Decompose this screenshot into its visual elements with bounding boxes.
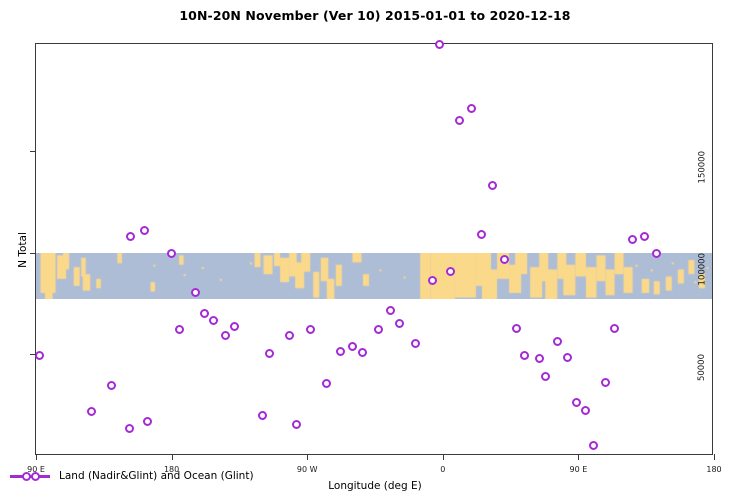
scatter-point (140, 226, 149, 235)
scatter-point (467, 104, 476, 113)
legend-marker-sample (10, 470, 52, 482)
legend-circle-icon (22, 472, 31, 481)
scatter-point (541, 372, 550, 381)
scatter-point (336, 347, 345, 356)
y-axis-tick (30, 253, 36, 254)
scatter-point (87, 407, 96, 416)
legend-label: Land (Nadir&Glint) and Ocean (Glint) (59, 470, 254, 482)
x-axis-tick (307, 454, 308, 460)
scatter-point (209, 316, 218, 325)
scatter-point (258, 411, 267, 420)
scatter-point (610, 324, 619, 333)
scatter-point (640, 232, 649, 241)
x-axis-tick-label: 180 (706, 465, 721, 474)
scatter-point (265, 349, 274, 358)
x-axis-tick-label: 0 (440, 465, 445, 474)
plot-area: 50000100000150000 90 E18090 W090 E180 (35, 43, 713, 455)
scatter-point (411, 339, 420, 348)
scatter-point (35, 351, 44, 360)
legend-circle-icon (31, 472, 40, 481)
scatter-point (374, 325, 383, 334)
world-map-band (36, 253, 712, 300)
y-axis-tick-label: 50000 (697, 354, 707, 381)
figure-canvas: 10N-20N November (Ver 10) 2015-01-01 to … (0, 0, 750, 500)
scatter-point (358, 348, 367, 357)
y-axis-tick-label: 100000 (697, 253, 707, 285)
y-axis-tick (30, 354, 36, 355)
scatter-point (292, 420, 301, 429)
x-axis-tick (172, 454, 173, 460)
scatter-point (520, 351, 529, 360)
y-axis-tick (30, 151, 36, 152)
scatter-point (230, 322, 239, 331)
scatter-point (589, 441, 598, 450)
x-axis-tick-label: 90 E (570, 465, 588, 474)
y-axis-tick-label: 150000 (697, 151, 707, 183)
chart-title: 10N-20N November (Ver 10) 2015-01-01 to … (0, 8, 750, 23)
scatter-point (200, 309, 209, 318)
scatter-point (553, 337, 562, 346)
scatter-point (628, 235, 637, 244)
scatter-point (306, 325, 315, 334)
scatter-point (175, 325, 184, 334)
scatter-point (563, 353, 572, 362)
scatter-point (191, 288, 200, 297)
scatter-point (348, 342, 357, 351)
scatter-point (477, 230, 486, 239)
scatter-point (143, 417, 152, 426)
scatter-point (601, 378, 610, 387)
scatter-point (125, 424, 134, 433)
scatter-point (488, 181, 497, 190)
scatter-point (535, 354, 544, 363)
scatter-point (512, 324, 521, 333)
x-axis-tick (578, 454, 579, 460)
scatter-point (126, 232, 135, 241)
x-axis-tick-label: 90 W (297, 465, 318, 474)
scatter-point (221, 331, 230, 340)
x-axis-tick (443, 454, 444, 460)
x-axis-tick (714, 454, 715, 460)
scatter-point (386, 306, 395, 315)
scatter-point (107, 381, 116, 390)
x-axis-tick (36, 454, 37, 460)
chart-legend: Land (Nadir&Glint) and Ocean (Glint) (10, 470, 254, 482)
scatter-point (322, 379, 331, 388)
scatter-point (581, 406, 590, 415)
scatter-point (455, 116, 464, 125)
scatter-point (285, 331, 294, 340)
scatter-point (395, 319, 404, 328)
scatter-point (572, 398, 581, 407)
y-axis-label: N Total (17, 232, 29, 268)
scatter-point (435, 40, 444, 49)
scatter-point (428, 276, 437, 285)
